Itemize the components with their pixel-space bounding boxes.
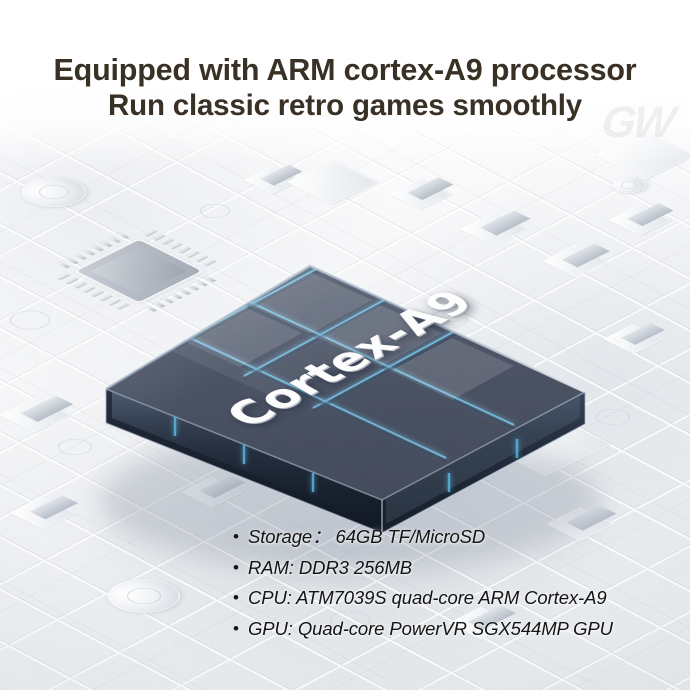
spec-text: GPU: Quad-core PowerVR SGX544MP GPU <box>248 618 613 639</box>
spec-list: • Storage： 64GB TF/MicroSD • RAM: DDR3 2… <box>233 526 613 648</box>
headline: Equipped with ARM cortex-A9 processor Ru… <box>0 52 690 124</box>
spec-text: RAM: DDR3 256MB <box>248 557 412 578</box>
headline-line-1: Equipped with ARM cortex-A9 processor <box>0 52 690 88</box>
bullet-icon: • <box>233 528 248 545</box>
bullet-icon: • <box>233 589 248 606</box>
spec-text: Storage： 64GB TF/MicroSD <box>248 526 485 547</box>
bullet-icon: • <box>233 559 248 576</box>
spec-item-ram: • RAM: DDR3 256MB <box>233 557 613 578</box>
headline-line-2: Run classic retro games smoothly <box>0 88 690 124</box>
spec-item-cpu: • CPU: ATM7039S quad-core ARM Cortex-A9 <box>233 587 613 608</box>
bullet-icon: • <box>233 620 248 637</box>
product-feature-image: Cortex-A9 GW Equipped with ARM cortex-A9… <box>0 0 690 690</box>
spec-text: CPU: ATM7039S quad-core ARM Cortex-A9 <box>248 587 607 608</box>
spec-item-storage: • Storage： 64GB TF/MicroSD <box>233 526 613 547</box>
spec-item-gpu: • GPU: Quad-core PowerVR SGX544MP GPU <box>233 618 613 639</box>
